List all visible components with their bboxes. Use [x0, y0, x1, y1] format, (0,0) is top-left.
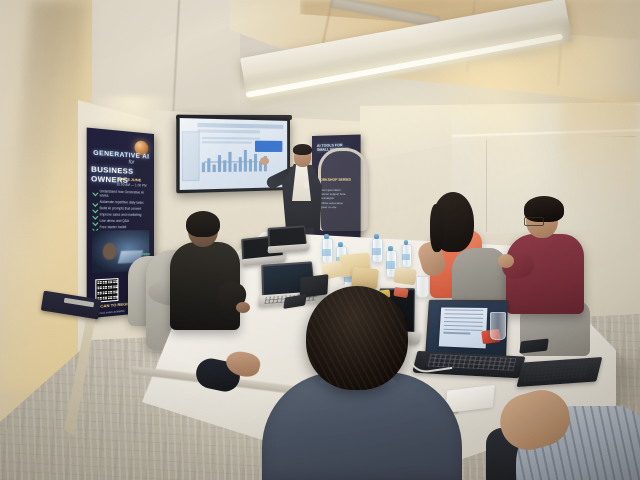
banner-bullet-list: Understand how Generative AI works Autom… [93, 190, 150, 233]
laptop[interactable] [267, 225, 311, 256]
water-bottle[interactable] [402, 244, 410, 266]
banner-bullet: Improve sales and marketing [93, 213, 150, 217]
bottle-cap [324, 234, 329, 239]
laptop-screen [269, 227, 305, 246]
water-bottle[interactable] [372, 238, 381, 261]
banner-bullet: Build AI prompts that convert [93, 207, 150, 211]
attendee-left-person [166, 214, 244, 334]
laptop-base [267, 244, 310, 254]
bottle-label [322, 249, 331, 256]
bottle-cap [374, 234, 379, 239]
bottle-cap [338, 242, 343, 247]
foreground-right-person [500, 388, 640, 480]
banner-date: SAT 8 JUNE [118, 176, 141, 182]
banner-bullet: Automate repetitive daily tasks [93, 200, 150, 205]
chart-bar [249, 159, 252, 171]
presenter-hand [260, 157, 269, 165]
attendee-left-hand [236, 302, 250, 313]
wall-light-pool [520, 40, 640, 170]
bottle-label [372, 248, 381, 255]
attendee-maroon-person [502, 198, 588, 318]
banner-bullet: Live demo and Q&A [93, 220, 150, 224]
meeting-room-photo: GENERATIVE AI for BUSINESS OWNERS SAT 8 … [0, 0, 640, 480]
screen-glare [180, 118, 253, 190]
foreground-navy-person [262, 286, 462, 480]
water-bottle[interactable] [322, 238, 331, 262]
eyeglasses-icon [524, 217, 544, 226]
banner-title-connector: for [129, 159, 135, 166]
bottle-cap [404, 240, 408, 245]
banner-photo-person [103, 243, 117, 260]
banner-bullet: Understand how Generative AI works [93, 190, 150, 199]
chart-bar [254, 154, 257, 172]
attendee-maroon-hand [498, 254, 514, 268]
banner-time: 10:00 AM — 1:00 PM [116, 182, 146, 187]
attendee-left-hair [186, 211, 220, 237]
presenter-name-badge [304, 182, 309, 188]
bottle-label [402, 254, 410, 261]
drinking-glass[interactable] [490, 312, 506, 340]
bottle-cap [388, 246, 393, 251]
attendee-coral-hair-front [430, 204, 444, 252]
foreground-navy-hair-texture [306, 286, 408, 390]
snack-box[interactable] [393, 267, 417, 286]
presenter-hair [293, 144, 312, 155]
bottle-label [386, 261, 395, 269]
